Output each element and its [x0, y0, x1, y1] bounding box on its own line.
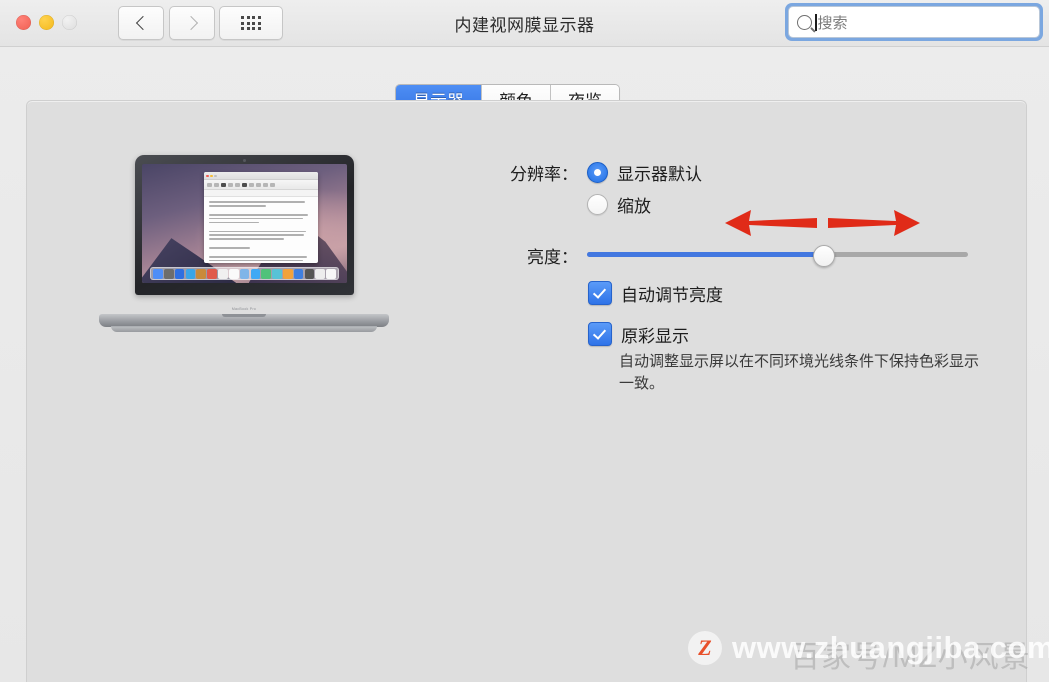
- drag-hint-annotation: [725, 205, 920, 241]
- system-preferences-window: 内建视网膜显示器 搜索 显示器 颜色 夜览: [0, 0, 1049, 682]
- checkbox-checked-icon[interactable]: [588, 281, 612, 305]
- checkbox-true-tone-label: 原彩显示: [621, 322, 689, 347]
- watermark-url: www.zhuangjiba.com: [732, 630, 1049, 666]
- preview-window-titlebar: [204, 172, 319, 180]
- laptop-lid: [135, 155, 354, 295]
- radio-selected-icon[interactable]: [587, 162, 608, 183]
- preview-toolbar: [204, 180, 319, 190]
- radio-default-label: 显示器默认: [617, 160, 702, 185]
- checkbox-true-tone[interactable]: 原彩显示: [588, 322, 689, 347]
- camera-icon: [243, 159, 246, 162]
- checkbox-auto-brightness[interactable]: 自动调节亮度: [588, 281, 723, 306]
- laptop-foot: [111, 326, 377, 332]
- radio-scaled[interactable]: 缩放: [587, 192, 651, 217]
- text-caret: [815, 14, 817, 31]
- search-field-inner[interactable]: 搜索: [788, 6, 1040, 38]
- brightness-slider[interactable]: [587, 247, 968, 261]
- preview-document-text: [204, 197, 319, 262]
- watermark: Z www.zhuangjiba.com: [688, 630, 1049, 666]
- titlebar: 内建视网膜显示器 搜索: [0, 0, 1049, 47]
- checkbox-auto-brightness-label: 自动调节亮度: [621, 281, 723, 306]
- radio-scaled-label: 缩放: [617, 192, 651, 217]
- search-field[interactable]: 搜索: [785, 3, 1043, 41]
- search-icon: [797, 15, 812, 30]
- resolution-label: 分辨率：: [378, 160, 578, 185]
- double-arrow-icon: [725, 205, 920, 241]
- brightness-label: 亮度：: [378, 243, 578, 268]
- checkbox-checked-icon[interactable]: [588, 322, 612, 346]
- slider-fill: [587, 252, 823, 257]
- preview-dock: [150, 267, 339, 280]
- preview-document-window: [204, 172, 319, 262]
- true-tone-description: 自动调整显示屏以在不同环境光线条件下保持色彩显示一致。: [619, 351, 989, 395]
- search-placeholder: 搜索: [818, 12, 848, 33]
- watermark-logo-icon: Z: [688, 631, 722, 665]
- preview-ruler: [204, 190, 319, 197]
- radio-unselected-icon[interactable]: [587, 194, 608, 215]
- laptop-screen: [142, 164, 347, 283]
- device-model-label: MacBook Pro: [99, 307, 389, 311]
- display-preview-illustration: MacBook Pro: [99, 155, 389, 335]
- radio-default-for-display[interactable]: 显示器默认: [587, 160, 702, 185]
